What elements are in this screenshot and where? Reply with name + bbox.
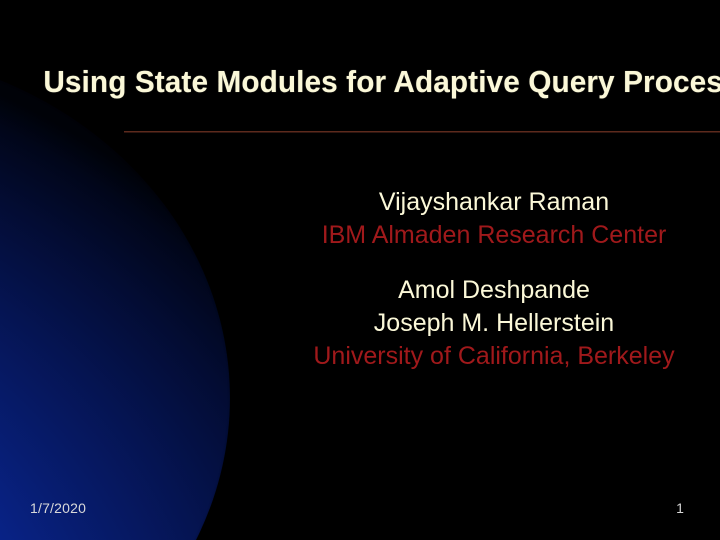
affiliation-line: University of California, Berkeley	[252, 340, 720, 373]
authors-block: Vijayshankar Raman IBM Almaden Research …	[252, 186, 720, 373]
title-divider-rule	[124, 131, 720, 132]
authors-block-spacer	[252, 252, 720, 274]
author-name-line: Joseph M. Hellerstein	[252, 307, 720, 340]
decorative-blue-ellipse	[0, 48, 230, 540]
footer-page-number: 1	[660, 500, 700, 516]
author-name-line: Amol Deshpande	[252, 274, 720, 307]
author-name-line: Vijayshankar Raman	[252, 186, 720, 219]
presentation-slide: Using State Modules for Adaptive Query P…	[0, 0, 720, 540]
footer-date: 1/7/2020	[30, 500, 86, 516]
slide-title: Using State Modules for Adaptive Query P…	[43, 63, 682, 101]
affiliation-line: IBM Almaden Research Center	[252, 219, 720, 252]
